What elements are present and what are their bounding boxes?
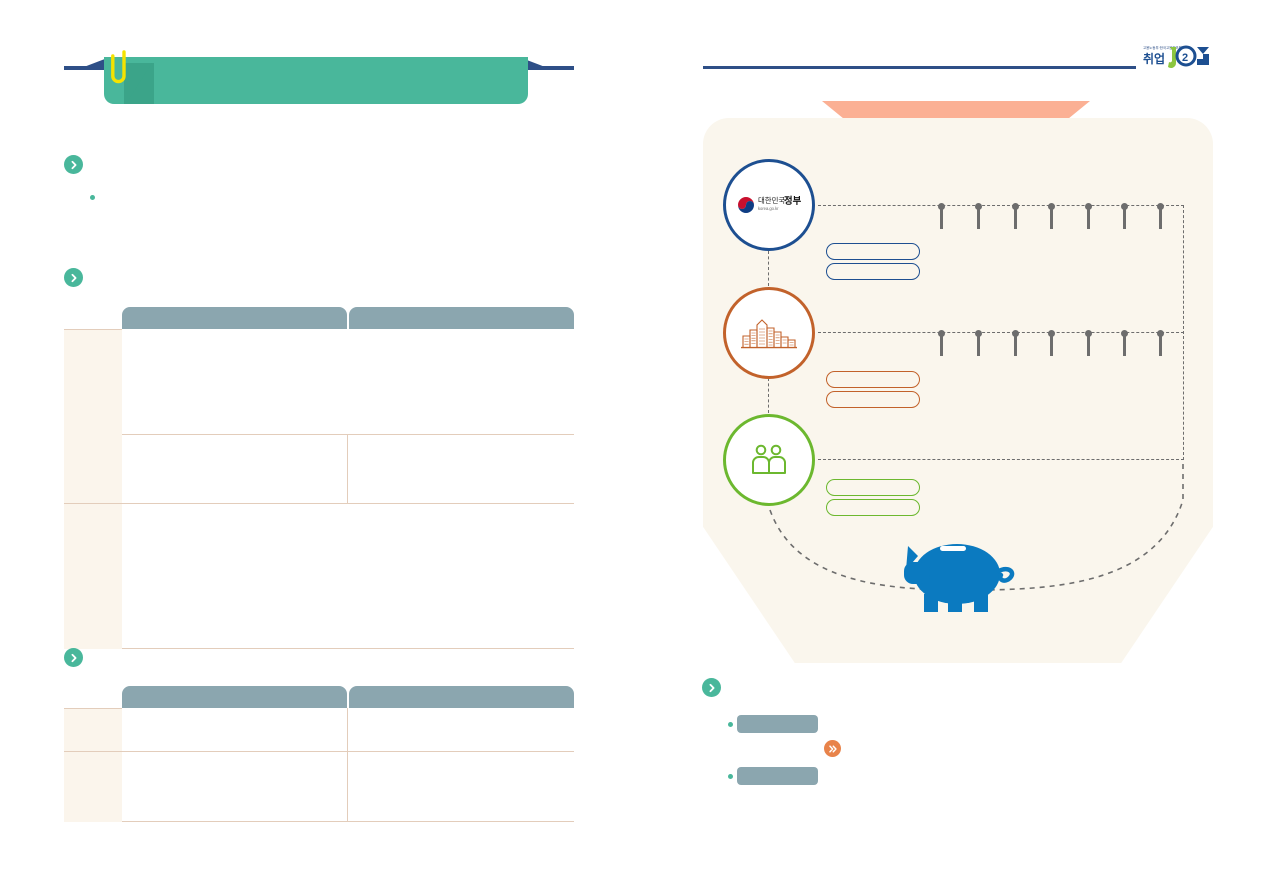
table-cell-text bbox=[122, 504, 123, 505]
table-column-header bbox=[122, 686, 347, 708]
bullet-dot bbox=[90, 195, 95, 200]
dashed-connector-top bbox=[818, 205, 1184, 206]
piggy-bank-icon bbox=[900, 528, 1022, 616]
node-government-pill-1[interactable] bbox=[826, 243, 920, 260]
left-column bbox=[0, 0, 640, 893]
svg-text:정부: 정부 bbox=[784, 195, 802, 206]
data-table-2 bbox=[64, 686, 574, 822]
table-column-header-label bbox=[349, 307, 350, 308]
table-row bbox=[122, 708, 574, 752]
pin-marker bbox=[1050, 332, 1053, 356]
pin-marker bbox=[940, 332, 943, 356]
table-cell bbox=[122, 708, 348, 751]
table-side-label bbox=[64, 709, 122, 752]
bullet-dot bbox=[728, 722, 733, 727]
table-side-column bbox=[64, 329, 122, 649]
table-cell-text bbox=[122, 708, 123, 709]
pin-marker bbox=[1159, 205, 1162, 229]
section-ribbon-label bbox=[822, 101, 823, 102]
node-people[interactable] bbox=[723, 414, 815, 506]
pin-marker bbox=[1087, 205, 1090, 229]
chevron-right-circle-icon[interactable] bbox=[64, 648, 83, 667]
node-company[interactable] bbox=[723, 287, 815, 379]
table-grid bbox=[122, 708, 574, 822]
chevron-right-circle-icon[interactable] bbox=[702, 678, 721, 697]
dashed-link-gov-company bbox=[768, 251, 769, 286]
pin-marker bbox=[1123, 205, 1126, 229]
pin-marker bbox=[1123, 332, 1126, 356]
table-cell-text bbox=[348, 708, 349, 709]
table-side-label-text bbox=[64, 752, 65, 753]
dashed-link-company-people bbox=[768, 378, 769, 413]
table-side-label bbox=[64, 752, 122, 822]
data-table-1 bbox=[64, 307, 574, 649]
table-row bbox=[122, 329, 574, 435]
node-government-pill-2[interactable] bbox=[826, 263, 920, 280]
node-government[interactable]: 대한민국 정부 korea.go.kr bbox=[723, 159, 815, 251]
table-row bbox=[122, 435, 574, 504]
table-column-header bbox=[349, 686, 574, 708]
table-row bbox=[122, 752, 574, 822]
table-cell bbox=[348, 752, 574, 821]
pin-marker bbox=[977, 332, 980, 356]
table-header-row bbox=[122, 307, 574, 329]
left-section-1-bullet-text bbox=[102, 190, 103, 191]
pin-marker bbox=[977, 205, 980, 229]
header-banner bbox=[104, 57, 528, 104]
table-side-label bbox=[64, 330, 122, 504]
table-header-row bbox=[122, 686, 574, 708]
header-banner-title bbox=[104, 57, 105, 58]
table-body bbox=[64, 329, 574, 649]
left-section-1-heading bbox=[90, 155, 91, 156]
chevron-right-circle-icon[interactable] bbox=[64, 268, 83, 287]
svg-text:취업: 취업 bbox=[1143, 51, 1165, 66]
pin-marker bbox=[940, 205, 943, 229]
left-section-2-heading bbox=[0, 0, 1, 1]
table-grid bbox=[122, 329, 574, 649]
placeholder-text bbox=[737, 767, 738, 768]
bullet-dot bbox=[728, 774, 733, 779]
double-chevron-right-circle-icon[interactable] bbox=[824, 740, 841, 757]
node-people-pill-1[interactable] bbox=[826, 479, 920, 496]
table-cell-text bbox=[122, 435, 123, 436]
table-cell bbox=[122, 504, 574, 648]
table-column-header bbox=[349, 307, 574, 329]
table-cell-text bbox=[348, 752, 349, 753]
table-column-header bbox=[122, 307, 347, 329]
table-cell bbox=[348, 435, 574, 503]
svg-text:대한민국: 대한민국 bbox=[758, 196, 785, 205]
pin-marker bbox=[1014, 332, 1017, 356]
table-cell-text bbox=[122, 752, 123, 753]
pin-marker bbox=[1050, 205, 1053, 229]
pin-marker bbox=[1087, 332, 1090, 356]
city-buildings-icon bbox=[741, 316, 797, 350]
svg-text:2: 2 bbox=[1182, 52, 1188, 64]
page-root: 고용노동부·한국고용정보원 취업 2 bbox=[0, 0, 1276, 893]
table-cell-text bbox=[348, 435, 349, 436]
table-column-header-label bbox=[122, 686, 123, 687]
table-side-label-text bbox=[64, 330, 65, 331]
table-side-label-text bbox=[64, 709, 65, 710]
pin-marker bbox=[1014, 205, 1017, 229]
node-company-pill-2[interactable] bbox=[826, 391, 920, 408]
table-body bbox=[64, 708, 574, 822]
dashed-connector-middle bbox=[818, 332, 1184, 333]
table-side-label-text bbox=[64, 504, 65, 505]
paperclip-icon bbox=[108, 50, 130, 88]
table-cell bbox=[348, 708, 574, 751]
table-column-header-label bbox=[122, 307, 123, 308]
table-cell-text bbox=[122, 329, 123, 330]
node-company-pill-1[interactable] bbox=[826, 371, 920, 388]
node-people-pill-2[interactable] bbox=[826, 499, 920, 516]
table-cell bbox=[122, 752, 348, 821]
pin-marker bbox=[1159, 332, 1162, 356]
chevron-right-circle-icon[interactable] bbox=[64, 155, 83, 174]
table-column-header-label bbox=[349, 686, 350, 687]
table-cell bbox=[122, 435, 348, 503]
table-side-column bbox=[64, 708, 122, 822]
table-row bbox=[122, 504, 574, 649]
placeholder-text-box bbox=[737, 715, 818, 733]
table-cell bbox=[122, 329, 574, 434]
korea-government-logo-icon: 대한민국 정부 korea.go.kr bbox=[736, 192, 802, 218]
placeholder-text bbox=[737, 715, 738, 716]
two-people-icon bbox=[750, 443, 788, 477]
chwieop-j23-logo: 고용노동부·한국고용정보원 취업 2 bbox=[1143, 41, 1213, 75]
placeholder-text-box bbox=[737, 767, 818, 785]
svg-text:korea.go.kr: korea.go.kr bbox=[758, 206, 779, 211]
right-header-rule bbox=[703, 66, 1136, 69]
table-side-label bbox=[64, 504, 122, 649]
left-section-3-heading bbox=[0, 0, 1, 1]
